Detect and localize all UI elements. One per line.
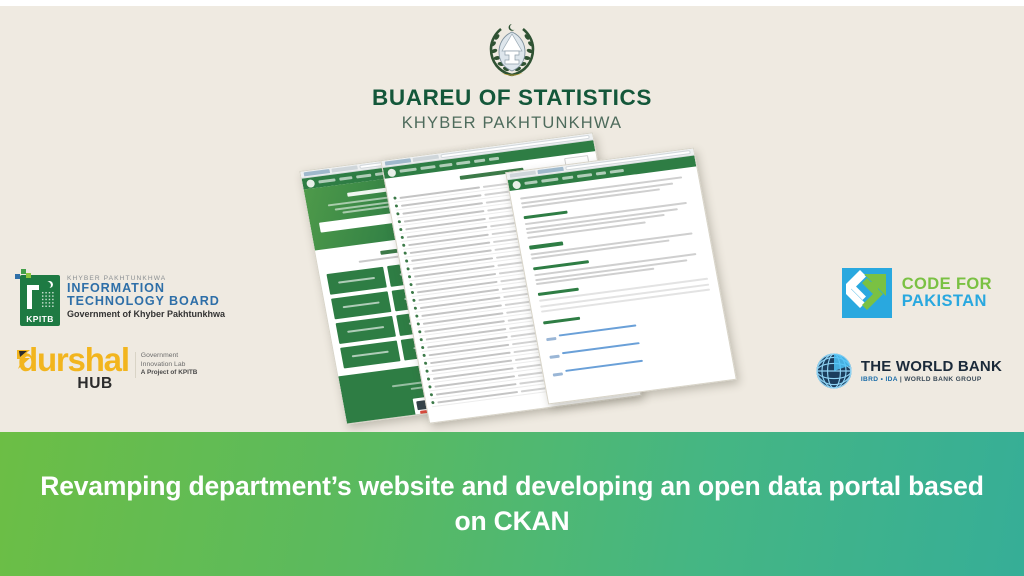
category-tile[interactable] xyxy=(326,267,387,295)
kpitb-logo-mark: KPITB xyxy=(14,268,60,326)
wb-dot: • xyxy=(881,376,884,383)
world-bank-name: THE WORLD BANK xyxy=(861,359,1002,375)
wb-ida: IDA xyxy=(885,376,897,383)
resource-link[interactable] xyxy=(559,324,637,336)
resource-link[interactable] xyxy=(565,360,643,372)
site-logo-icon xyxy=(306,179,315,188)
wb-group: WORLD BANK GROUP xyxy=(904,376,981,383)
category-tile[interactable] xyxy=(336,316,397,344)
resource-link[interactable] xyxy=(562,342,640,354)
durshal-tagline-3: A Project of KPITB xyxy=(141,369,198,377)
durshal-logo: durshal HUB Government Innovation Lab A … xyxy=(18,344,197,393)
caption-banner: Revamping department’s website and devel… xyxy=(0,432,1024,576)
code-for-pakistan-logo-mark xyxy=(842,268,892,318)
wb-sep: | xyxy=(900,376,902,383)
code-for-pakistan-logo: CODE FOR PAKISTAN xyxy=(842,268,992,318)
cfp-line1: CODE FOR xyxy=(902,276,992,293)
durshal-tagline-2: Innovation Lab xyxy=(141,361,198,370)
world-bank-globe-icon xyxy=(815,352,853,390)
cfp-line2: PAKISTAN xyxy=(902,293,992,310)
site-logo-icon xyxy=(387,168,396,177)
category-tile[interactable] xyxy=(331,291,392,319)
durshal-wordmark: durshal xyxy=(18,344,129,376)
page-title: BUAREU OF STATISTICS xyxy=(0,86,1024,110)
durshal-tagline-1: Government xyxy=(141,352,198,361)
site-logo-icon xyxy=(512,180,521,189)
kpitb-logo: KPITB KHYBER PAKHTUNKHWA INFORMATION TEC… xyxy=(14,268,225,326)
page-subtitle: KHYBER PAKHTUNKHWA xyxy=(0,114,1024,133)
website-screenshots-collage xyxy=(300,138,730,423)
kpitb-mark-label: KPITB xyxy=(20,314,60,324)
article-body xyxy=(510,166,734,390)
caption-text: Revamping department’s website and devel… xyxy=(12,469,1012,539)
presentation-slide: BUAREU OF STATISTICS KHYBER PAKHTUNKHWA xyxy=(0,0,1024,576)
wb-ibrd: IBRD xyxy=(861,376,879,383)
pakistan-government-emblem xyxy=(479,18,545,80)
world-bank-logo: THE WORLD BANK IBRD • IDA | WORLD BANK G… xyxy=(815,352,1002,390)
kpitb-line2: INFORMATION xyxy=(67,282,225,295)
kpitb-line3: TECHNOLOGY BOARD xyxy=(67,295,225,308)
world-bank-sub: IBRD • IDA | WORLD BANK GROUP xyxy=(861,376,1002,383)
kpitb-line4: Government of Khyber Pakhtunkhwa xyxy=(67,310,225,320)
category-tile[interactable] xyxy=(340,340,401,368)
slide-header: BUAREU OF STATISTICS KHYBER PAKHTUNKHWA xyxy=(0,18,1024,133)
durshal-arrow-mark xyxy=(17,350,34,369)
